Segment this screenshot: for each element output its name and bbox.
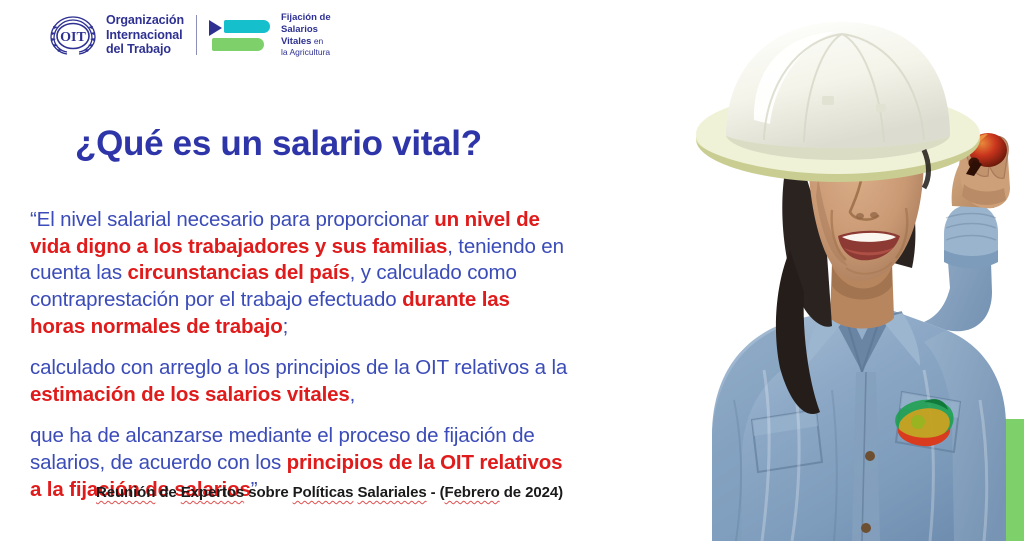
svg-text:OIT: OIT (60, 30, 86, 45)
credit-word-10: de 2024) (500, 484, 563, 501)
logo-divider (196, 15, 197, 55)
ilo-name-line-1: Organización (106, 13, 184, 28)
credit-word-5: Políticas (293, 484, 354, 501)
credit-word-1: Reunión (96, 484, 155, 501)
programme-line-4: la Agricultura (281, 47, 331, 57)
quote-p1-seg7: ; (283, 315, 289, 338)
credit-word-3: Expertos (181, 484, 244, 501)
page-title: ¿Qué es un salario vital? (75, 124, 482, 164)
programme-shapes-icon (209, 15, 273, 55)
programme-logo: Fijación de Salarios Vitales en la Agric… (209, 12, 331, 57)
quote-paragraph-2: calculado con arreglo a los principios d… (30, 355, 570, 408)
programme-line-1: Fijación de (281, 12, 331, 24)
credit-word-2: de (155, 484, 180, 501)
programme-line-2: Salarios (281, 24, 331, 36)
worker-photo (594, 0, 1024, 541)
quote-block: “El nivel salarial necesario para propor… (30, 207, 570, 503)
slide-root: OIT Organización Internacional del Traba… (0, 0, 1024, 541)
ilo-wordmark: Organización Internacional del Trabajo (106, 13, 184, 57)
credit-word-4: sobre (244, 484, 292, 501)
quote-p2-seg3: , (350, 383, 356, 406)
quote-p2-seg1: calculado con arreglo a los principios d… (30, 356, 567, 379)
programme-line-3-light: en (311, 36, 323, 46)
credit-word-8: - ( (427, 484, 445, 501)
ilo-name-line-3: del Trabajo (106, 42, 184, 57)
programme-line-3: Vitales en (281, 36, 331, 48)
ilo-emblem-icon: OIT (46, 13, 100, 57)
logo-bar: OIT Organización Internacional del Traba… (46, 10, 331, 60)
teal-bar-icon (224, 20, 270, 33)
ilo-name-line-2: Internacional (106, 28, 184, 43)
programme-line-3-bold: Vitales (281, 36, 311, 47)
programme-wordmark: Fijación de Salarios Vitales en la Agric… (281, 12, 331, 57)
quote-p1-seg1: “El nivel salarial necesario para propor… (30, 208, 434, 231)
green-bar-icon (212, 38, 264, 51)
quote-p2-highlight1: estimación de los salarios vitales (30, 383, 350, 406)
source-credit: Reunión de Expertos sobre Políticas Sala… (96, 484, 563, 501)
credit-word-7: Salariales (358, 484, 427, 501)
play-triangle-icon (209, 20, 222, 36)
quote-p1-highlight2: circunstancias del país (128, 261, 350, 284)
credit-word-9: Febrero (445, 484, 500, 501)
quote-paragraph-1: “El nivel salarial necesario para propor… (30, 207, 570, 340)
